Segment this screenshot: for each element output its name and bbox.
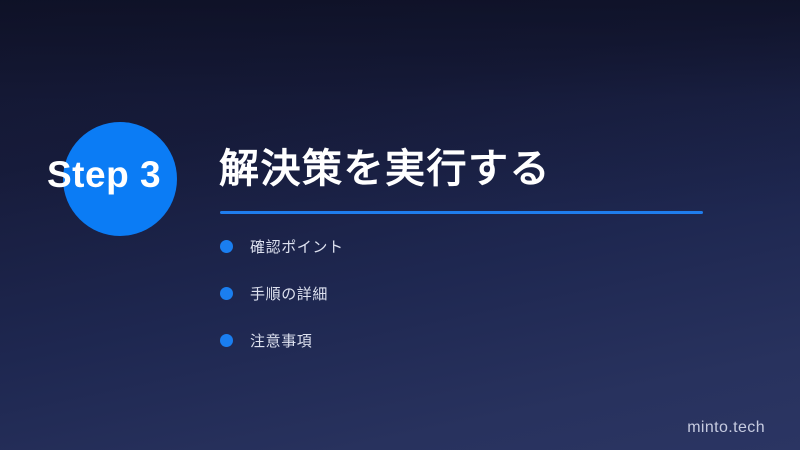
list-item: 注意事項	[220, 326, 344, 354]
bullet-label: 確認ポイント	[250, 236, 344, 257]
bullet-label: 手順の詳細	[250, 283, 328, 304]
bullet-label: 注意事項	[250, 330, 312, 351]
bullet-list: 確認ポイント 手順の詳細 注意事項	[220, 232, 344, 373]
list-item: 確認ポイント	[220, 232, 344, 260]
slide-title: 解決策を実行する	[219, 144, 551, 194]
bullet-dot-icon	[220, 240, 233, 253]
list-item: 手順の詳細	[220, 279, 344, 307]
title-divider	[220, 211, 703, 214]
bullet-dot-icon	[220, 334, 233, 347]
bullet-dot-icon	[220, 287, 233, 300]
brand-watermark: minto.tech	[687, 419, 765, 437]
slide-canvas: Step 3 解決策を実行する 確認ポイント 手順の詳細 注意事項 minto.…	[0, 0, 800, 450]
